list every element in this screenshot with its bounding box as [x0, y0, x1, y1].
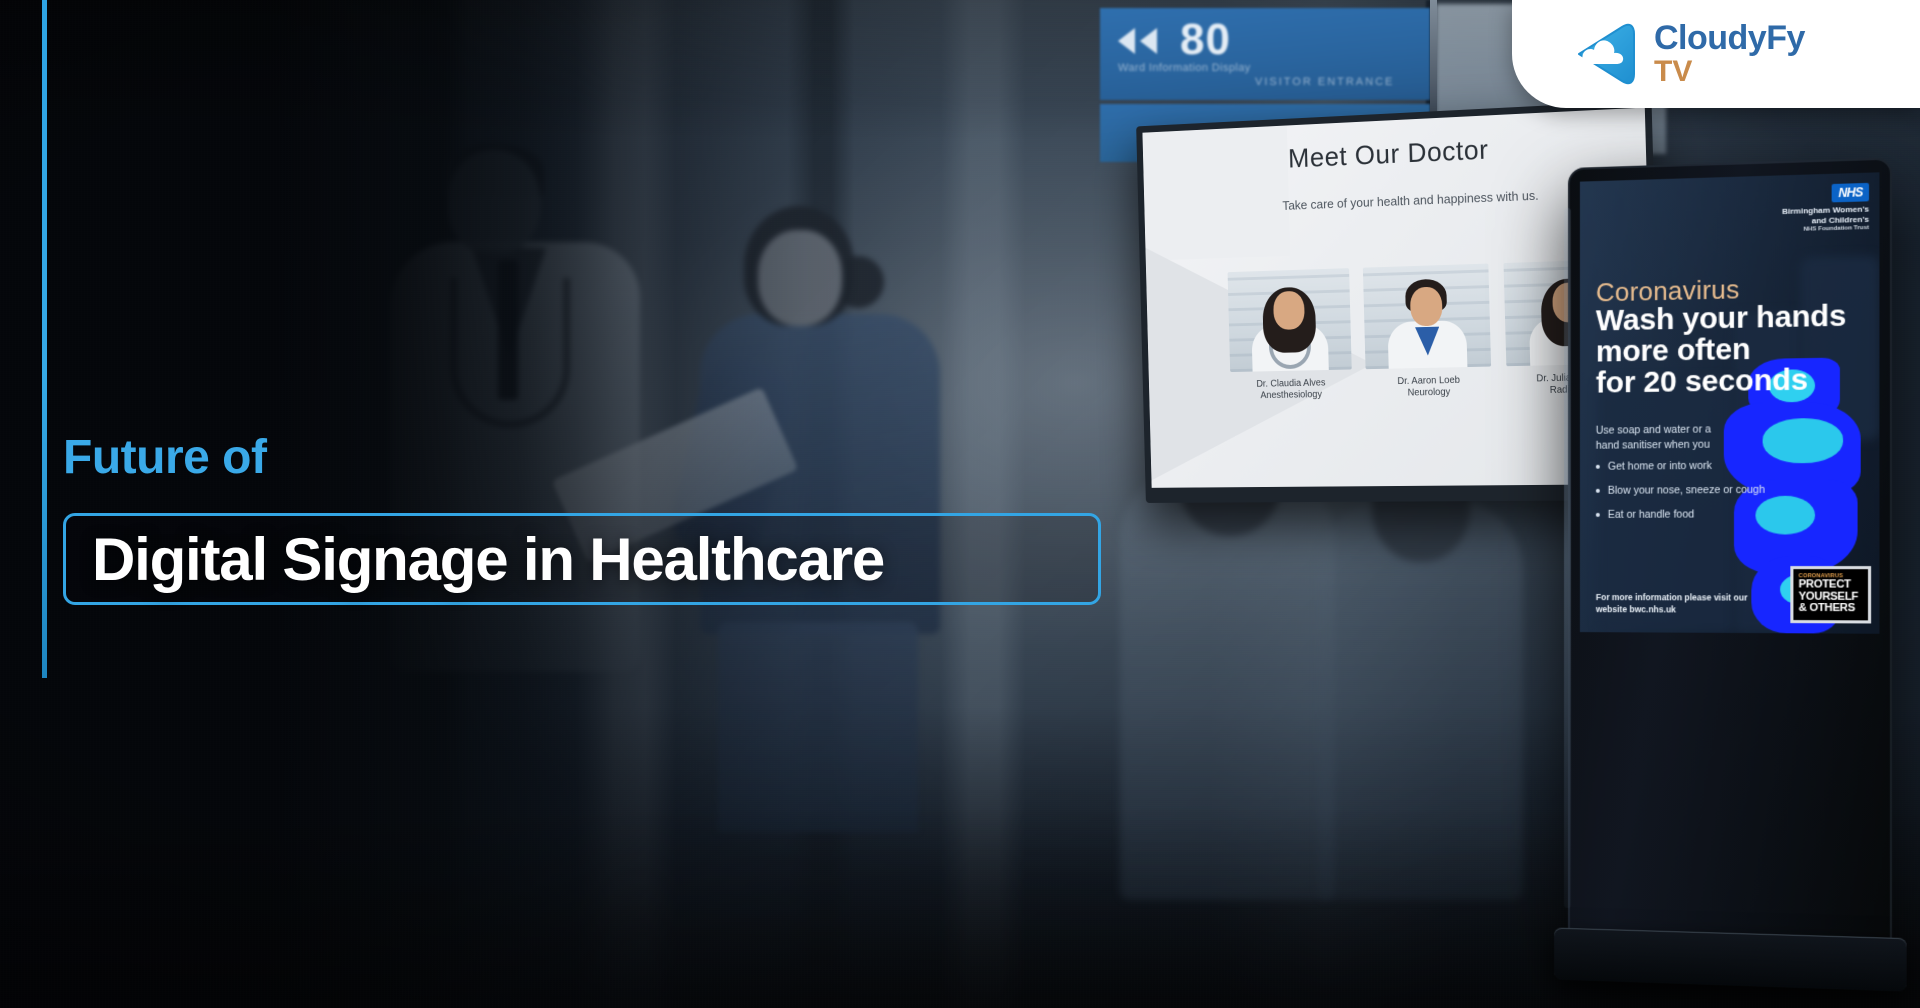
- doctor-card: Dr. Aaron Loeb Neurology: [1363, 263, 1492, 399]
- nhs-logo-block: NHS Birmingham Women's and Children's NH…: [1782, 183, 1869, 235]
- nhs-logo: NHS: [1832, 183, 1869, 203]
- wayfinding-number: 80: [1180, 18, 1231, 62]
- tv-ceiling-mount: [1430, 0, 1437, 118]
- kiosk-bullet-item: Blow your nose, sneeze or cough: [1596, 483, 1765, 498]
- kiosk-headline-line-1: Wash your hands: [1596, 300, 1846, 337]
- cloudyfy-cloud-play-icon: [1570, 20, 1638, 88]
- badge-line-3: & OTHERS: [1799, 603, 1863, 615]
- kiosk-headline-line-2: more often: [1596, 332, 1846, 368]
- female-doctor-photo: [1228, 268, 1352, 372]
- headline-title-box: Digital Signage in Healthcare: [63, 513, 1101, 605]
- kiosk-lead-line-2: hand sanitiser when you: [1596, 437, 1711, 453]
- tv-subtitle: Take care of your health and happiness w…: [1250, 186, 1574, 217]
- wayfinding-caption: Ward Information Display: [1118, 62, 1251, 74]
- brand-name-line-1: CloudyFy: [1654, 21, 1805, 55]
- brand-name-line-2: TV: [1654, 57, 1805, 87]
- accent-bar: [42, 0, 47, 678]
- kiosk-bullet-list: Get home or into work Blow your nose, sn…: [1596, 458, 1765, 532]
- brand-name: CloudyFy TV: [1654, 21, 1805, 87]
- wayfinding-caption-right: VISITOR ENTRANCE: [1255, 76, 1394, 88]
- hero-banner: 80 Ward Information Display VISITOR ENTR…: [0, 0, 1920, 1008]
- badge-line-1: PROTECT: [1799, 580, 1863, 592]
- page-title: Digital Signage in Healthcare: [92, 525, 884, 594]
- kiosk-footer-line-1: For more information please visit: [1596, 592, 1731, 602]
- digital-signage-kiosk: NHS Birmingham Women's and Children's NH…: [1568, 158, 1892, 967]
- kiosk-headline: Wash your hands more often for 20 second…: [1596, 300, 1846, 399]
- double-arrow-right-icon: [1118, 28, 1157, 54]
- brand-logo-plate[interactable]: CloudyFy TV: [1512, 0, 1920, 108]
- kiosk-lead-line-1: Use soap and water or a: [1596, 422, 1711, 438]
- male-doctor-photo: [1363, 263, 1491, 369]
- kiosk-headline-line-3: for 20 seconds: [1596, 364, 1846, 399]
- kiosk-bullet-item: Eat or handle food: [1596, 507, 1765, 522]
- wayfinding-sign: 80 Ward Information Display VISITOR ENTR…: [1100, 8, 1430, 100]
- doctor-role: Anesthesiology: [1231, 389, 1353, 402]
- kiosk-bezel-highlight: [1564, 208, 1571, 908]
- kiosk-bullet-item: Get home or into work: [1596, 458, 1765, 474]
- protect-yourself-badge: CORONAVIRUS PROTECT YOURSELF & OTHERS: [1790, 566, 1871, 623]
- nhs-trust-name: Birmingham Women's and Children's NHS Fo…: [1782, 204, 1869, 234]
- doctor-role: Neurology: [1366, 386, 1492, 399]
- kiosk-lead-text: Use soap and water or a hand sanitiser w…: [1596, 422, 1711, 453]
- doctor-card: Dr. Claudia Alves Anesthesiology: [1228, 268, 1353, 402]
- kiosk-screen: NHS Birmingham Women's and Children's NH…: [1580, 172, 1880, 633]
- kiosk-footer: For more information please visit our we…: [1596, 592, 1778, 617]
- trust-line-2: and Children's: [1812, 215, 1869, 226]
- headline-kicker: Future of: [63, 430, 266, 485]
